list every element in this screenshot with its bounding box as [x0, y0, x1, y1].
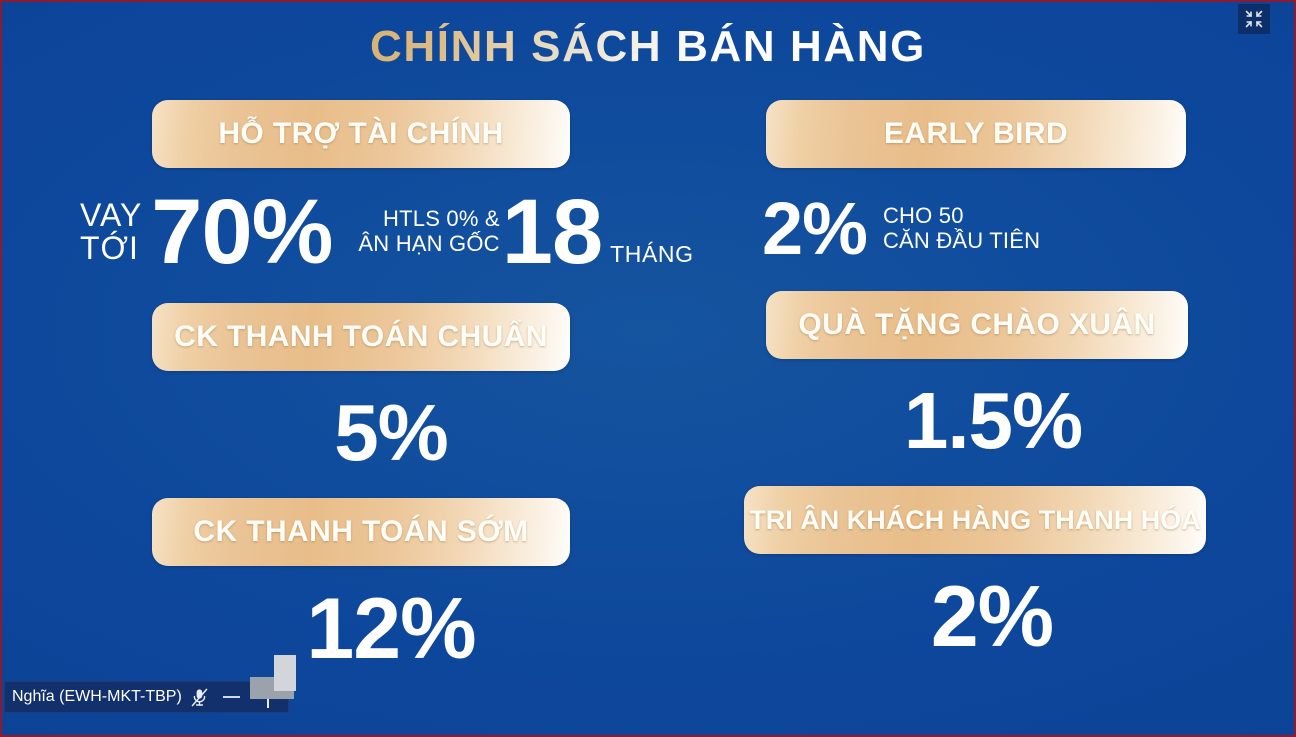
early-bird-note: CHO 50 CĂN ĐẦU TIÊN — [883, 204, 1040, 253]
exit-fullscreen-button[interactable] — [1238, 4, 1270, 34]
early-bird-percent-value: 2% — [762, 192, 867, 266]
spring-gift-value: 1.5% — [662, 381, 1222, 461]
policy-group-thanh-hoa-loyalty: TRI ÂN KHÁCH HÀNG THANH HÓA 2% — [662, 486, 1222, 660]
early-bird-note-line2: CĂN ĐẦU TIÊN — [883, 229, 1040, 254]
policy-group-early-bird: EARLY BIRD 2% CHO 50 CĂN ĐẦU TIÊN — [662, 100, 1222, 266]
pill-label: EARLY BIRD — [884, 117, 1068, 151]
left-policy-column: HỖ TRỢ TÀI CHÍNH VAY TỚI 70% HTLS 0% & Â… — [74, 100, 634, 672]
early-payment-discount-value: 12% — [74, 586, 634, 672]
cursor-artifact-block-2 — [274, 655, 296, 691]
policy-group-financial-support: HỖ TRỢ TÀI CHÍNH VAY TỚI 70% HTLS 0% & Â… — [74, 100, 634, 278]
thanh-hoa-loyalty-value: 2% — [662, 574, 1222, 660]
loan-term-value: 18 — [502, 186, 602, 278]
loan-note-line1: HTLS 0% & — [358, 207, 499, 232]
pill-label: QUÀ TẶNG CHÀO XUÂN — [798, 308, 1155, 342]
pill-ho-tro-tai-chinh[interactable]: HỖ TRỢ TÀI CHÍNH — [152, 100, 570, 168]
participant-name: Nghĩa (EWH-MKT-TBP) — [12, 689, 182, 705]
exit-fullscreen-icon — [1244, 9, 1264, 29]
pill-label: CK THANH TOÁN SỚM — [193, 515, 528, 549]
pill-qua-tang-chao-xuan[interactable]: QUÀ TẶNG CHÀO XUÂN — [766, 291, 1188, 359]
loan-prefix: VAY TỚI — [80, 199, 142, 266]
loan-note: HTLS 0% & ÂN HẠN GỐC — [358, 207, 499, 256]
value-row-early-bird: 2% CHO 50 CĂN ĐẦU TIÊN — [662, 192, 1222, 266]
value-row-loan: VAY TỚI 70% HTLS 0% & ÂN HẠN GỐC 18 THÁN… — [74, 186, 634, 278]
loan-prefix-line1: VAY — [80, 199, 142, 232]
pill-ck-thanh-toan-chuan[interactable]: CK THANH TOÁN CHUẨN — [152, 303, 570, 371]
pill-ck-thanh-toan-som[interactable]: CK THANH TOÁN SỚM — [152, 498, 570, 566]
microphone-muted-icon[interactable] — [191, 688, 208, 707]
pill-label: HỖ TRỢ TÀI CHÍNH — [218, 117, 503, 151]
standard-payment-discount-value: 5% — [74, 393, 634, 473]
pill-label: CK THANH TOÁN CHUẨN — [174, 320, 548, 354]
pill-label: TRI ÂN KHÁCH HÀNG THANH HÓA — [749, 505, 1200, 536]
loan-note-line2: ÂN HẠN GỐC — [358, 232, 499, 257]
policy-group-spring-gift: QUÀ TẶNG CHÀO XUÂN 1.5% — [662, 291, 1222, 461]
early-bird-note-line1: CHO 50 — [883, 204, 1040, 229]
slide-title: CHÍNH SÁCH BÁN HÀNG — [370, 23, 926, 71]
presentation-slide: CHÍNH SÁCH BÁN HÀNG HỖ TRỢ TÀI CHÍNH VAY… — [2, 2, 1294, 735]
participant-name-bar[interactable]: Nghĩa (EWH-MKT-TBP) — [4, 681, 289, 713]
right-policy-column: EARLY BIRD 2% CHO 50 CĂN ĐẦU TIÊN QUÀ TẶ… — [662, 100, 1222, 660]
loan-percent-value: 70% — [151, 186, 332, 278]
video-call-screen: CHÍNH SÁCH BÁN HÀNG HỖ TRỢ TÀI CHÍNH VAY… — [0, 0, 1296, 737]
loan-prefix-line2: TỚI — [80, 232, 142, 265]
pill-tri-an-khach-hang-thanh-hoa[interactable]: TRI ÂN KHÁCH HÀNG THANH HÓA — [744, 486, 1206, 554]
pill-early-bird[interactable]: EARLY BIRD — [766, 100, 1186, 168]
slide-title-container: CHÍNH SÁCH BÁN HÀNG — [2, 23, 1294, 71]
minus-indicator — [223, 696, 240, 698]
policy-group-standard-payment-discount: CK THANH TOÁN CHUẨN 5% — [74, 303, 634, 473]
policy-group-early-payment-discount: CK THANH TOÁN SỚM 12% — [74, 498, 634, 672]
